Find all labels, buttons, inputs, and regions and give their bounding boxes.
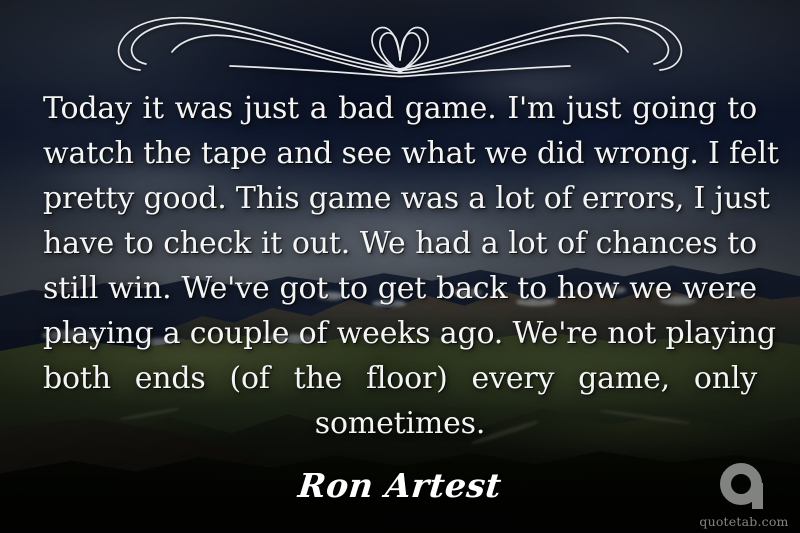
quote-card: Today it was just a bad game. I'm just g…	[0, 0, 800, 533]
author-name: Ron Artest	[0, 466, 800, 505]
quote-line: watch the tape and see what we did wrong…	[43, 131, 757, 176]
card-content: Today it was just a bad game. I'm just g…	[0, 0, 800, 533]
logo-tail	[752, 483, 763, 509]
quote-text: Today it was just a bad game. I'm just g…	[43, 86, 757, 446]
watermark[interactable]: quotetab.com	[696, 463, 792, 529]
quote-line: sometimes.	[43, 401, 757, 446]
flourish-divider-icon	[80, 6, 720, 78]
watermark-site-label: quotetab.com	[699, 514, 788, 529]
quotetab-q-logo-icon	[720, 463, 768, 511]
quote-line: both ends (of the floor) every game, onl…	[43, 356, 757, 401]
quote-line: pretty good. This game was a lot of erro…	[43, 176, 757, 221]
quote-line: playing a couple of weeks ago. We're not…	[43, 311, 757, 356]
quote-line: have to check it out. We had a lot of ch…	[43, 221, 757, 266]
quote-line: still win. We've got to get back to how …	[43, 266, 757, 311]
quote-line: Today it was just a bad game. I'm just g…	[43, 86, 757, 131]
